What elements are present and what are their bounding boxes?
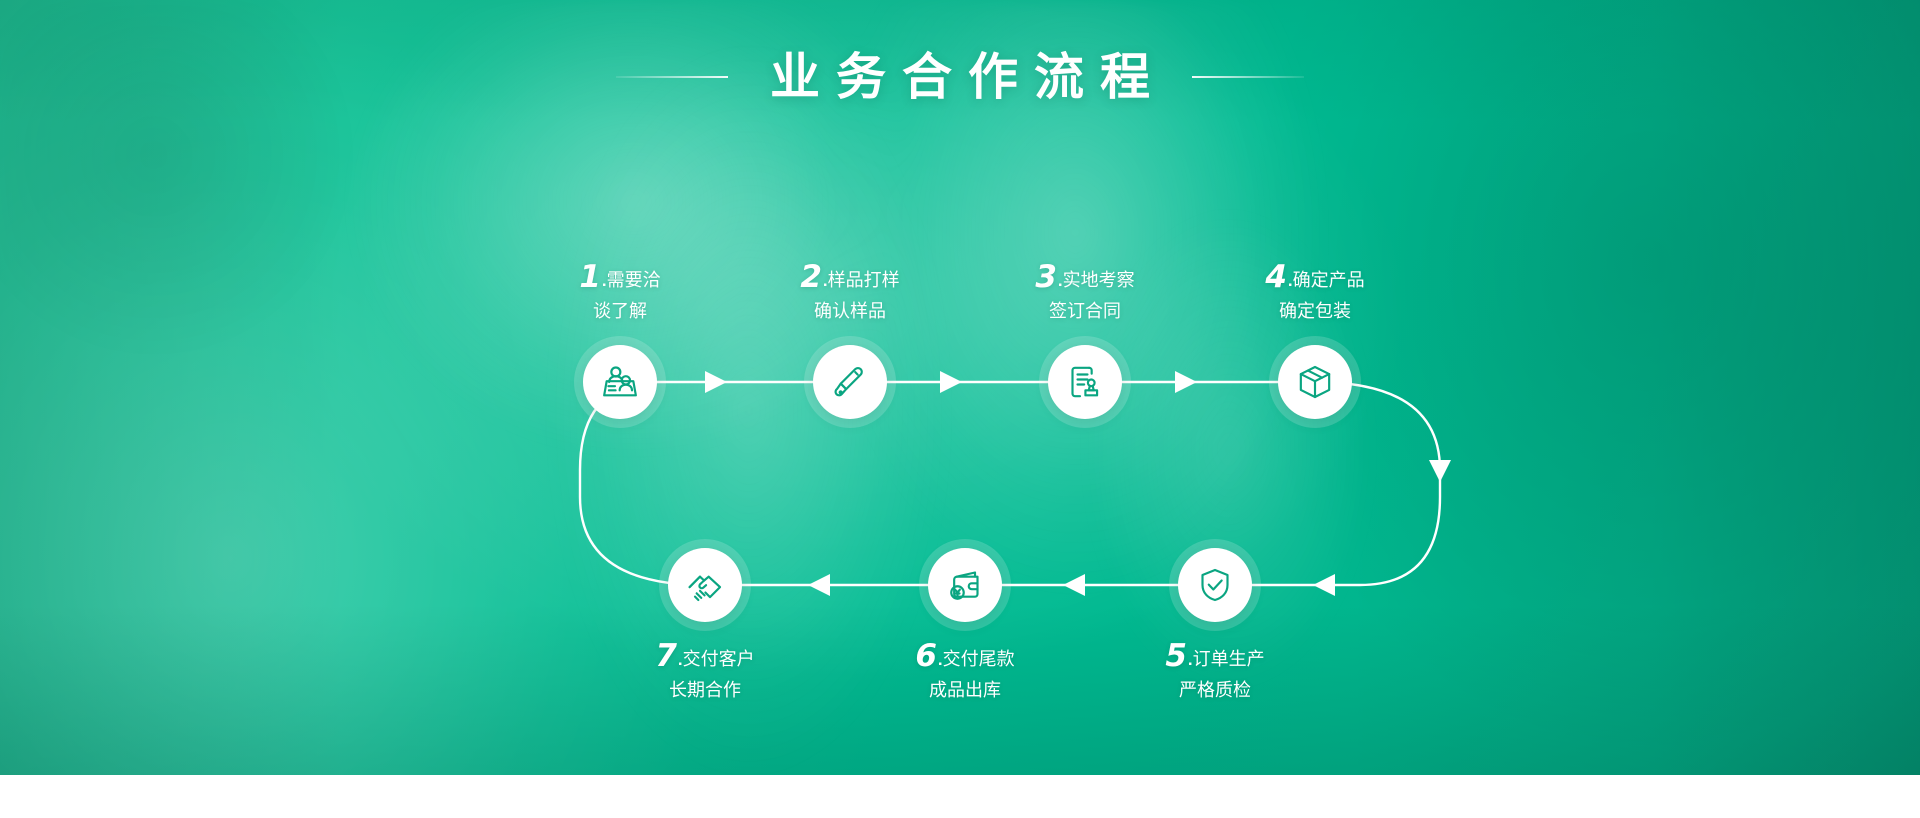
- arrow-step5-to-step6: [1063, 574, 1085, 596]
- flow-step-caption-2: 2.样品打样确认样品: [735, 255, 965, 325]
- flow-step-node-7[interactable]: [668, 548, 742, 622]
- flow-step-caption-4: 4.确定产品确定包装: [1200, 255, 1430, 325]
- flow-step-caption-3: 3.实地考察签订合同: [970, 255, 1200, 325]
- flow-step-caption-6: 6.交付尾款成品出库: [850, 634, 1080, 704]
- process-banner: 业务合作流程 1.需要洽谈了解 2.样品打样确认样品: [0, 0, 1920, 775]
- flow-step-node-6[interactable]: [928, 548, 1002, 622]
- flow-step-caption-line1-5: 5.订单生产: [1100, 634, 1330, 678]
- flow-step-caption-line1-1: 1.需要洽: [505, 255, 735, 299]
- flow-step-text-line1-7: 交付客户: [683, 649, 755, 669]
- flow-step-text-line2-4: 确定包装: [1200, 299, 1430, 325]
- two-people-icon: [600, 362, 640, 402]
- title-rule-left: [616, 76, 728, 78]
- wallet-yuan-icon: [945, 565, 985, 605]
- flow-step-text-line2-5: 严格质检: [1100, 678, 1330, 704]
- flow-step-text-line1-4: 确定产品: [1293, 270, 1365, 290]
- arrow-step4-to-step5: [1429, 460, 1451, 482]
- pencil-icon: [830, 362, 870, 402]
- arrow-step6-to-step7: [808, 574, 830, 596]
- flow-step-node-4[interactable]: [1278, 345, 1352, 419]
- page-title: 业务合作流程: [754, 52, 1166, 102]
- flow-step-caption-line1-2: 2.样品打样: [735, 255, 965, 299]
- flow-step-text-line2-1: 谈了解: [505, 299, 735, 325]
- flow-step-node-5[interactable]: [1178, 548, 1252, 622]
- flow-step-text-line1-2: 样品打样: [828, 270, 900, 290]
- flow-step-text-line1-3: 实地考察: [1063, 270, 1135, 290]
- arrow-step3-to-step4: [1175, 371, 1197, 393]
- flow-step-number-2: 2: [800, 259, 822, 295]
- flow-step-node-2[interactable]: [813, 345, 887, 419]
- title-rule-right: [1192, 76, 1304, 78]
- arrow-step1-to-step2: [705, 371, 727, 393]
- flow-step-number-7: 7: [655, 638, 677, 674]
- shield-check-icon: [1195, 565, 1235, 605]
- arrow-step2-to-step3: [940, 371, 962, 393]
- flow-step-text-line1-1: 需要洽: [607, 270, 661, 290]
- flow-step-text-line2-6: 成品出库: [850, 678, 1080, 704]
- flow-step-text-line2-3: 签订合同: [970, 299, 1200, 325]
- flow-step-number-1: 1: [579, 259, 601, 295]
- contract-stamp-icon: [1065, 362, 1105, 402]
- flow-step-text-line1-5: 订单生产: [1193, 649, 1265, 669]
- flow-step-caption-line1-7: 7.交付客户: [590, 634, 820, 678]
- flow-step-caption-5: 5.订单生产严格质检: [1100, 634, 1330, 704]
- flow-step-caption-line1-4: 4.确定产品: [1200, 255, 1430, 299]
- handshake-icon: [685, 565, 725, 605]
- process-flow-diagram: 1.需要洽谈了解 2.样品打样确认样品 3.实地考察签订合同 4.确定产品确定包…: [0, 0, 1920, 775]
- flow-step-number-4: 4: [1265, 259, 1287, 295]
- flow-step-text-line2-2: 确认样品: [735, 299, 965, 325]
- flow-step-caption-line1-3: 3.实地考察: [970, 255, 1200, 299]
- flow-step-caption-line1-6: 6.交付尾款: [850, 634, 1080, 678]
- flow-step-text-line2-7: 长期合作: [590, 678, 820, 704]
- flow-step-number-3: 3: [1035, 259, 1057, 295]
- flow-step-node-3[interactable]: [1048, 345, 1122, 419]
- flow-step-node-1[interactable]: [583, 345, 657, 419]
- page-title-container: 业务合作流程: [0, 52, 1920, 102]
- flow-step-number-6: 6: [915, 638, 937, 674]
- flow-step-caption-1: 1.需要洽谈了解: [505, 255, 735, 325]
- flow-step-number-5: 5: [1165, 638, 1187, 674]
- package-box-icon: [1295, 362, 1335, 402]
- flow-step-text-line1-6: 交付尾款: [943, 649, 1015, 669]
- arrow-loop-to-step7: [1313, 574, 1335, 596]
- flow-step-caption-7: 7.交付客户长期合作: [590, 634, 820, 704]
